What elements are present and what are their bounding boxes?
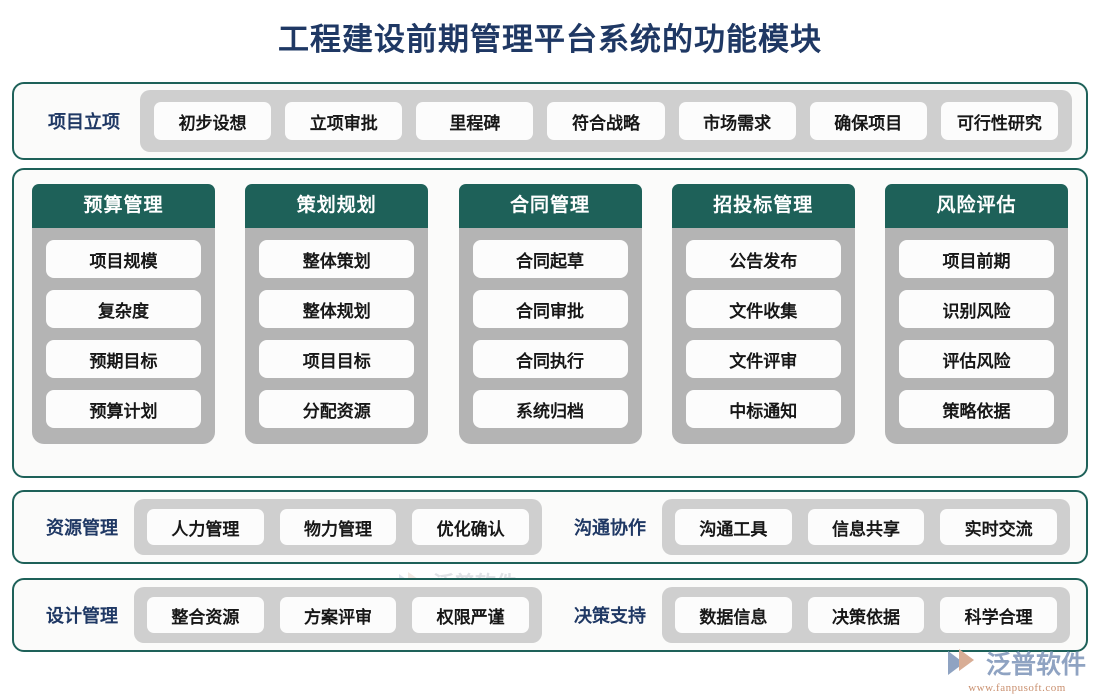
section-core-modules: 预算管理 项目规模 复杂度 预期目标 预算计划 策划规划 整体策划 整体规划 项…	[12, 168, 1088, 478]
module-column-contract: 合同管理 合同起草 合同审批 合同执行 系统归档	[459, 184, 642, 444]
chip-item[interactable]: 中标通知	[686, 390, 841, 428]
chip-item[interactable]: 方案评审	[280, 597, 397, 633]
chip-item[interactable]: 整体规划	[259, 290, 414, 328]
module-column-header[interactable]: 风险评估	[885, 184, 1068, 228]
chip-item[interactable]: 策略依据	[899, 390, 1054, 428]
chip-item[interactable]: 科学合理	[940, 597, 1057, 633]
module-column-header[interactable]: 招投标管理	[672, 184, 855, 228]
chip-item[interactable]: 项目规模	[46, 240, 201, 278]
chip-item[interactable]: 符合战略	[547, 102, 664, 140]
module-column-header[interactable]: 预算管理	[32, 184, 215, 228]
subsection-decision-support: 决策支持 数据信息 决策依据 科学合理	[558, 587, 1070, 643]
chip-item[interactable]: 确保项目	[810, 102, 927, 140]
chip-item[interactable]: 实时交流	[940, 509, 1057, 545]
section-label-decision-support: 决策支持	[558, 602, 662, 628]
chip-item[interactable]: 决策依据	[808, 597, 925, 633]
chip-item[interactable]: 权限严谨	[412, 597, 529, 633]
chip-item[interactable]: 数据信息	[675, 597, 792, 633]
chip-tray-communication-collaboration: 沟通工具 信息共享 实时交流	[662, 499, 1070, 555]
chip-item[interactable]: 里程碑	[416, 102, 533, 140]
chip-item[interactable]: 预算计划	[46, 390, 201, 428]
module-column-risk: 风险评估 项目前期 识别风险 评估风险 策略依据	[885, 184, 1068, 444]
brand-logo: 泛普软件 www.fanpusoft.com	[948, 645, 1086, 694]
module-column-budget: 预算管理 项目规模 复杂度 预期目标 预算计划	[32, 184, 215, 444]
chip-item[interactable]: 识别风险	[899, 290, 1054, 328]
chip-item[interactable]: 文件评审	[686, 340, 841, 378]
chip-tray-design-management: 整合资源 方案评审 权限严谨	[134, 587, 542, 643]
chip-item[interactable]: 市场需求	[679, 102, 796, 140]
chip-item[interactable]: 分配资源	[259, 390, 414, 428]
module-column-body: 合同起草 合同审批 合同执行 系统归档	[459, 228, 642, 444]
subsection-design-management: 设计管理 整合资源 方案评审 权限严谨	[30, 587, 542, 643]
chip-item[interactable]: 评估风险	[899, 340, 1054, 378]
chip-item[interactable]: 初步设想	[154, 102, 271, 140]
chip-tray-project-intake: 初步设想 立项审批 里程碑 符合战略 市场需求 确保项目 可行性研究	[140, 90, 1072, 152]
module-column-planning: 策划规划 整体策划 整体规划 项目目标 分配资源	[245, 184, 428, 444]
chip-item[interactable]: 预期目标	[46, 340, 201, 378]
module-column-header[interactable]: 策划规划	[245, 184, 428, 228]
chip-tray-resource-management: 人力管理 物力管理 优化确认	[134, 499, 542, 555]
module-column-bidding: 招投标管理 公告发布 文件收集 文件评审 中标通知	[672, 184, 855, 444]
fanpu-logo-icon	[948, 648, 982, 678]
chip-item[interactable]: 优化确认	[412, 509, 529, 545]
module-column-body: 项目前期 识别风险 评估风险 策略依据	[885, 228, 1068, 444]
chip-item[interactable]: 立项审批	[285, 102, 402, 140]
chip-item[interactable]: 合同审批	[473, 290, 628, 328]
chip-item[interactable]: 整合资源	[147, 597, 264, 633]
subsection-communication-collaboration: 沟通协作 沟通工具 信息共享 实时交流	[558, 499, 1070, 555]
chip-item[interactable]: 沟通工具	[675, 509, 792, 545]
section-label-communication-collaboration: 沟通协作	[558, 514, 662, 540]
chip-item[interactable]: 人力管理	[147, 509, 264, 545]
section-project-intake: 项目立项 初步设想 立项审批 里程碑 符合战略 市场需求 确保项目 可行性研究	[12, 82, 1088, 160]
module-column-body: 整体策划 整体规划 项目目标 分配资源	[245, 228, 428, 444]
chip-item[interactable]: 系统归档	[473, 390, 628, 428]
chip-item[interactable]: 公告发布	[686, 240, 841, 278]
chip-item[interactable]: 信息共享	[808, 509, 925, 545]
section-label-resource-management: 资源管理	[30, 514, 134, 540]
section-resource-communication: 资源管理 人力管理 物力管理 优化确认 沟通协作 沟通工具 信息共享 实时交流	[12, 490, 1088, 564]
subsection-resource-management: 资源管理 人力管理 物力管理 优化确认	[30, 499, 542, 555]
brand-url: www.fanpusoft.com	[948, 682, 1086, 694]
chip-item[interactable]: 合同起草	[473, 240, 628, 278]
section-label-design-management: 设计管理	[30, 602, 134, 628]
chip-tray-decision-support: 数据信息 决策依据 科学合理	[662, 587, 1070, 643]
brand-logo-row: 泛普软件	[948, 645, 1086, 681]
section-design-decision: 设计管理 整合资源 方案评审 权限严谨 决策支持 数据信息 决策依据 科学合理	[12, 578, 1088, 652]
module-column-body: 项目规模 复杂度 预期目标 预算计划	[32, 228, 215, 444]
chip-item[interactable]: 项目前期	[899, 240, 1054, 278]
chip-item[interactable]: 物力管理	[280, 509, 397, 545]
module-column-body: 公告发布 文件收集 文件评审 中标通知	[672, 228, 855, 444]
module-column-header[interactable]: 合同管理	[459, 184, 642, 228]
chip-item[interactable]: 合同执行	[473, 340, 628, 378]
section-label-project-intake: 项目立项	[28, 108, 140, 134]
chip-item[interactable]: 文件收集	[686, 290, 841, 328]
brand-name: 泛普软件	[986, 645, 1086, 681]
chip-item[interactable]: 整体策划	[259, 240, 414, 278]
chip-item[interactable]: 项目目标	[259, 340, 414, 378]
chip-item[interactable]: 可行性研究	[941, 102, 1058, 140]
page-title: 工程建设前期管理平台系统的功能模块	[0, 0, 1100, 69]
chip-item[interactable]: 复杂度	[46, 290, 201, 328]
